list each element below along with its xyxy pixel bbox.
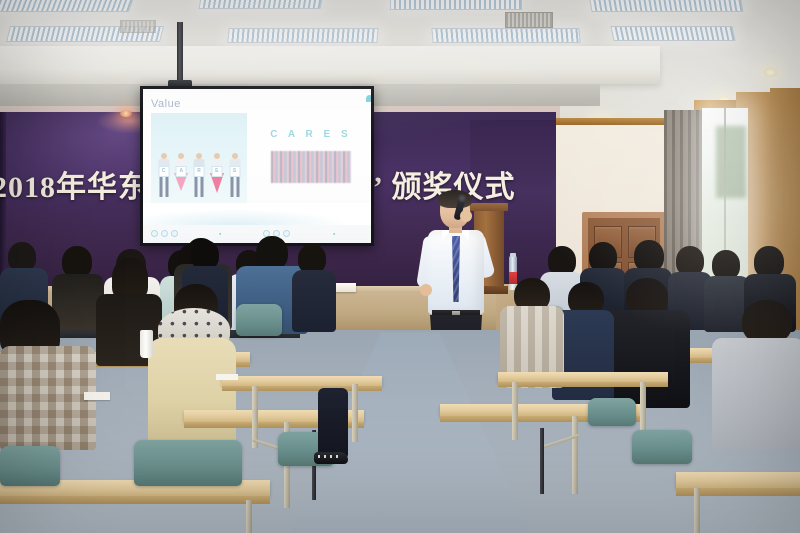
desk-leg [694,488,700,533]
fluorescent-light-panel [390,0,522,10]
desk-leg [640,382,646,432]
paper-sheet [84,392,110,400]
slide-group-photo [271,151,351,183]
figure-legs [230,175,239,197]
slide-cares-heading: C A R E S [263,129,359,140]
speaker-left-hand [420,284,432,296]
footer-logo-icon: ● [219,231,222,236]
air-vent [120,20,156,33]
letter-card: S [229,166,240,177]
student-desk [498,372,668,382]
audience-torso [712,338,800,450]
student-desk-edge [0,496,270,504]
classroom-chair[interactable] [0,446,60,486]
lecture-hall-photo: 2018年华东理 金” 颁奖仪式 Value C [0,0,800,533]
fluorescent-light-panel [431,28,580,43]
fluorescent-light-panel [588,0,743,12]
letter-card: R [194,166,205,177]
illustrated-figure: R [193,153,206,201]
footer-dots-icon [151,230,178,237]
slide-left-panel: C A R [151,113,247,213]
ceiling-downlight [764,68,777,77]
ceiling-soffit [0,46,660,84]
illustrated-figure: C [157,153,170,201]
cares-figures-illustration: C A R [157,149,241,201]
slide-title: Value [151,98,181,110]
classroom-chair[interactable] [632,430,692,464]
audience-leg [318,388,348,460]
audience-torso [0,346,96,450]
paper-sheet [216,374,238,380]
chair-leg [540,428,544,494]
desk-leg [246,500,252,533]
student-desk [676,472,800,488]
fluorescent-light-panel [0,0,135,12]
letter-card: A [176,166,187,177]
illustrated-figure: E [210,153,223,201]
footer-logo-icon: ● [333,231,336,236]
audience-member [604,278,690,408]
desk-leg [572,416,578,494]
speaker-right-hand [460,210,472,222]
shoe-stripe-icon [318,455,340,458]
classroom-chair[interactable] [236,304,282,336]
audience-member [292,244,336,332]
projection-screen: Value C A [143,89,371,243]
desk-leg [512,382,518,440]
audience-member [0,300,96,450]
fluorescent-light-panel [227,28,378,43]
illustrated-figure: S [228,153,241,201]
student-desk-edge [222,386,382,391]
audience-member [712,300,800,450]
projection-screen-frame: Value C A [140,86,374,246]
audience-head [256,236,288,270]
slide-wave-decoration [143,203,371,225]
audience-member [148,284,236,454]
projector-mount-pole [177,22,183,84]
paper-cup [140,330,153,358]
letter-card: C [158,166,169,177]
letter-card: E [211,166,222,177]
water-bottle-cap [510,253,516,257]
air-vent [505,12,553,28]
desk-leg [352,384,358,442]
fluorescent-light-panel [610,26,735,41]
audience-shoe [314,452,348,464]
classroom-chair[interactable] [588,398,636,426]
window-foliage-view [716,126,746,198]
audience-torso [148,338,236,454]
student-desk [222,376,382,386]
illustrated-figure: A [175,153,188,201]
audience-torso [292,270,336,332]
figure-legs [159,175,168,197]
spotlight-lamp-icon [120,110,132,117]
audience-torso [604,310,690,408]
classroom-chair[interactable] [134,440,242,486]
figure-legs [195,175,204,197]
fluorescent-light-panel [199,0,324,9]
speaker-hair [438,190,472,208]
